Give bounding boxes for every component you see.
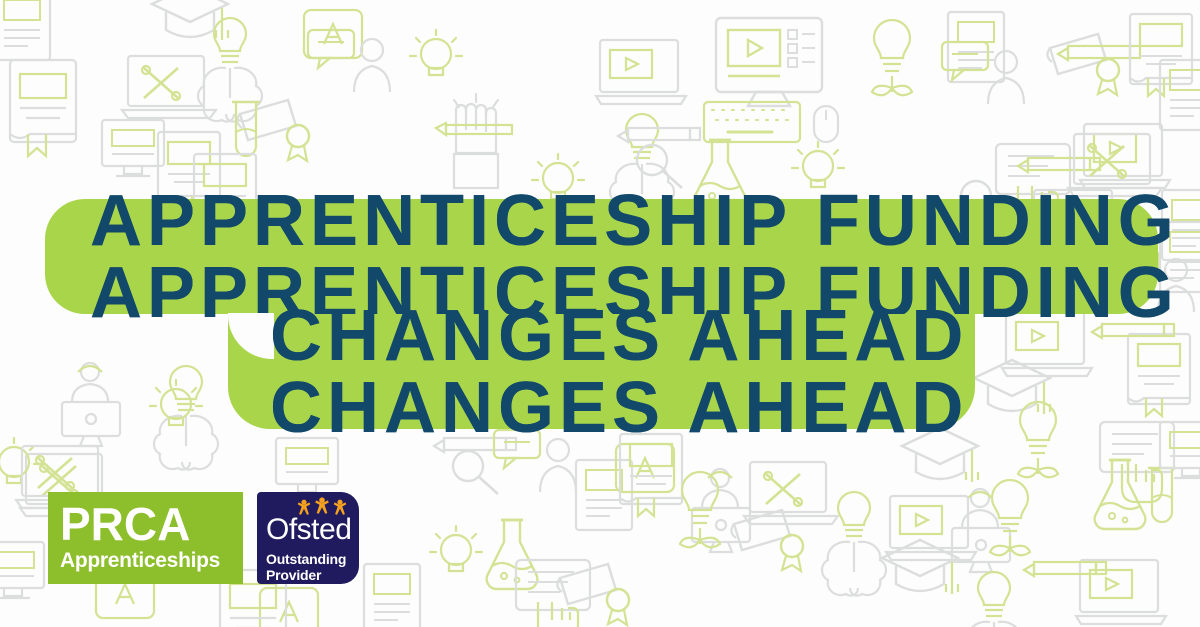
headline-line-2-outline: CHANGES AHEAD [270,372,968,444]
ofsted-stars-icon [296,497,352,517]
marketing-banner: APPRENTICESHIP FUNDING APPRENTICESHIP FU… [0,0,1200,627]
headline-line-2: CHANGES AHEAD [270,300,968,372]
headline-bar-secondary: CHANGES AHEAD CHANGES AHEAD [228,314,975,429]
ofsted-badge: Ofsted Outstanding Provider [257,492,359,584]
prca-subtitle: Apprenticeships [60,550,220,572]
headline-line-2-wrap: CHANGES AHEAD CHANGES AHEAD [270,300,968,444]
ofsted-tagline-line1: Outstanding [266,551,346,567]
prca-logo: PRCA Apprenticeships [48,492,243,584]
ofsted-tagline: Outstanding Provider [266,552,351,583]
ofsted-wordmark: Ofsted [266,515,351,545]
prca-wordmark: PRCA [60,502,190,547]
logo-lockup: PRCA Apprenticeships [48,492,359,584]
headline-line-1: APPRENTICESHIP FUNDING [90,185,1179,257]
ofsted-tagline-line2: Provider [266,567,321,583]
